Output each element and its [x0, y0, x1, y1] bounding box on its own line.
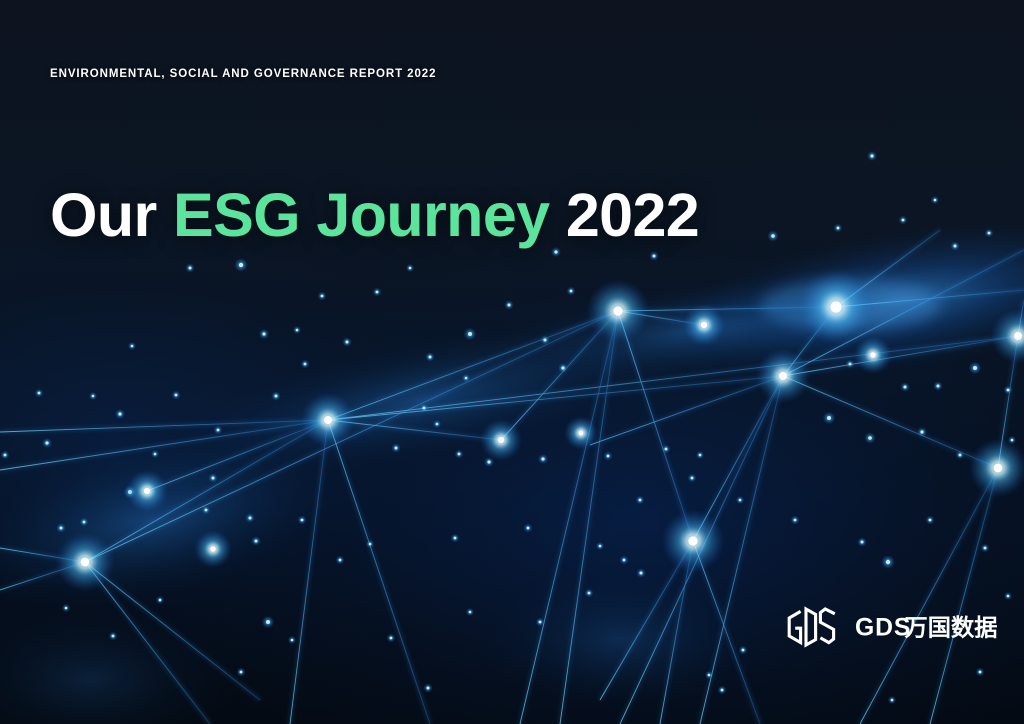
gds-hexagon-monogram-icon: [782, 598, 842, 656]
esg-report-cover-page: ENVIRONMENTAL, SOCIAL AND GOVERNANCE REP…: [0, 0, 1024, 724]
title-part-two: 2022: [549, 181, 699, 249]
title-part-one: Our: [50, 181, 173, 249]
title-accent: ESG Journey: [173, 181, 549, 249]
wordmark-chinese-text: 万国数据: [904, 614, 998, 641]
page-title: Our ESG Journey 2022: [50, 184, 699, 246]
gds-wordmark: GDS 万国数据: [855, 612, 1024, 642]
gds-logo: GDS 万国数据: [782, 598, 1024, 656]
report-eyebrow-label: ENVIRONMENTAL, SOCIAL AND GOVERNANCE REP…: [50, 68, 436, 80]
wordmark-latin-text: GDS: [855, 614, 911, 641]
